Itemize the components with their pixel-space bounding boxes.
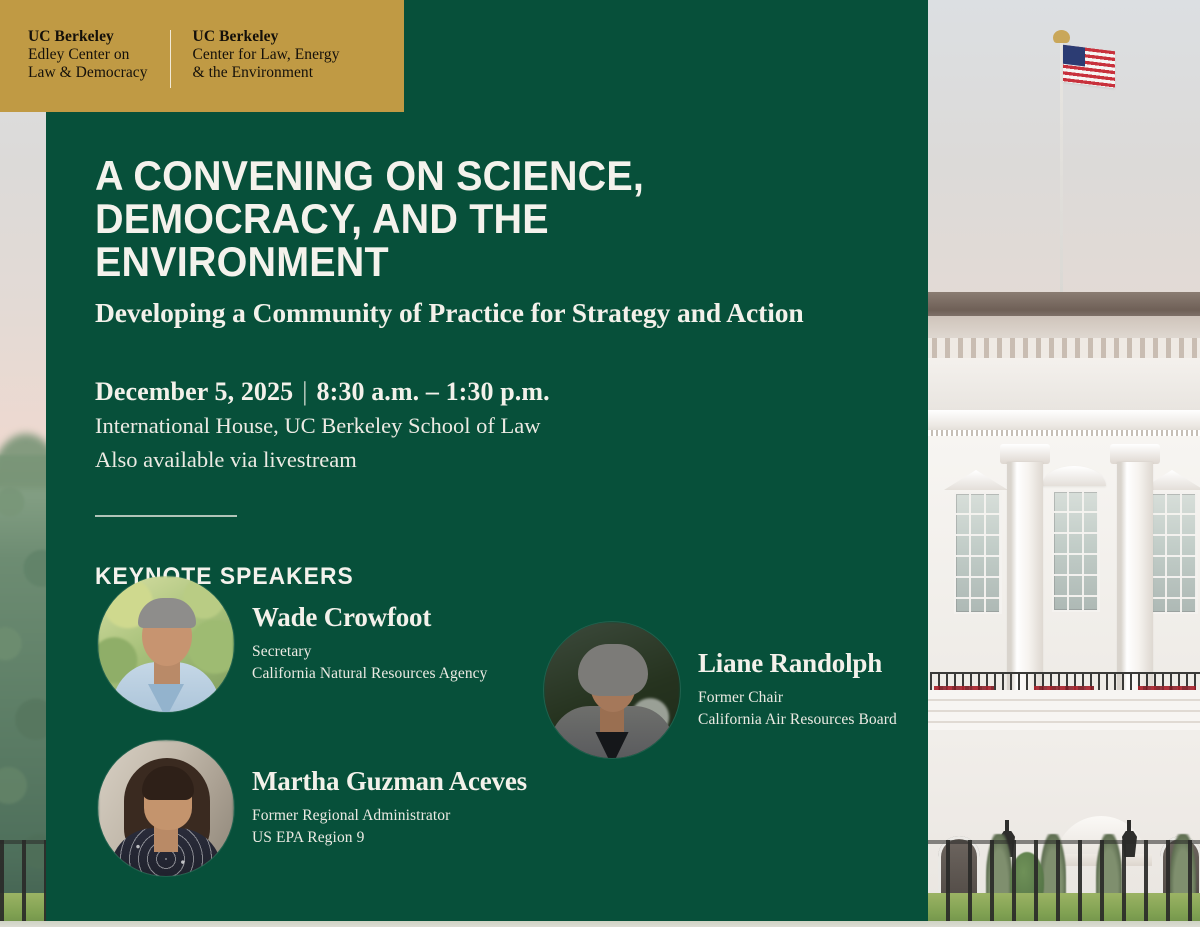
flyer-content: A CONVENING ON SCIENCE, DEMOCRACY, AND T… xyxy=(95,155,895,591)
speaker-card-martha-guzman-aceves: Martha Guzman Aceves Former Regional Adm… xyxy=(98,740,527,876)
logo-bar: UC Berkeley Edley Center on Law & Democr… xyxy=(0,0,404,112)
avatar xyxy=(98,740,234,876)
avatar xyxy=(544,622,680,758)
page-subtitle: Developing a Community of Practice for S… xyxy=(95,297,895,329)
column-capital xyxy=(1000,444,1050,464)
logo-clee: UC Berkeley Center for Law, Energy & the… xyxy=(193,28,340,82)
speaker-info: Martha Guzman Aceves Former Regional Adm… xyxy=(252,767,527,850)
datetime-separator: | xyxy=(293,377,316,407)
upper-wall xyxy=(928,358,1200,414)
avatar xyxy=(98,576,234,712)
logo-clee-line2: Center for Law, Energy xyxy=(193,46,340,64)
speaker-org: US EPA Region 9 xyxy=(252,827,527,849)
column-capital xyxy=(1110,444,1160,464)
logo-clee-line3: & the Environment xyxy=(193,64,340,82)
speaker-name: Wade Crowfoot xyxy=(252,603,488,633)
logo-divider xyxy=(170,30,171,88)
speaker-org: California Natural Resources Agency xyxy=(252,663,488,685)
speaker-info: Wade Crowfoot Secretary California Natur… xyxy=(252,603,488,686)
logo-uc-berkeley-label-2: UC Berkeley xyxy=(193,28,340,46)
title-line-2: DEMOCRACY, AND THE ENVIRONMENT xyxy=(95,198,847,284)
page-title: A CONVENING ON SCIENCE, DEMOCRACY, AND T… xyxy=(95,155,847,283)
speaker-org: California Air Resources Board xyxy=(698,709,897,731)
event-flyer: UC Berkeley Edley Center on Law & Democr… xyxy=(0,0,1200,927)
speaker-card-wade-crowfoot: Wade Crowfoot Secretary California Natur… xyxy=(98,576,488,712)
speaker-role: Secretary xyxy=(252,641,488,663)
avatar-hair xyxy=(578,644,648,696)
speaker-info: Liane Randolph Former Chair California A… xyxy=(698,649,897,732)
speakers-list: Wade Crowfoot Secretary California Natur… xyxy=(0,560,1200,920)
event-datetime: December 5, 2025|8:30 a.m. – 1:30 p.m. xyxy=(95,377,895,407)
speaker-role: Former Chair xyxy=(698,687,897,709)
event-date: December 5, 2025 xyxy=(95,377,293,406)
logo-edley-line2: Edley Center on xyxy=(28,46,148,64)
logo-uc-berkeley-label: UC Berkeley xyxy=(28,28,148,46)
event-time: 8:30 a.m. – 1:30 p.m. xyxy=(317,377,550,406)
bottom-edge-strip xyxy=(0,921,1200,927)
green-panel-top-right xyxy=(404,0,928,112)
logo-lockup: UC Berkeley Edley Center on Law & Democr… xyxy=(28,28,340,92)
speaker-card-liane-randolph: Liane Randolph Former Chair California A… xyxy=(544,622,897,758)
logo-edley-line3: Law & Democracy xyxy=(28,64,148,82)
speaker-role: Former Regional Administrator xyxy=(252,805,527,827)
event-livestream-note: Also available via livestream xyxy=(95,447,895,473)
flagpole-finial-icon xyxy=(1053,30,1070,43)
title-line-1: A CONVENING ON SCIENCE, xyxy=(95,152,644,199)
flag-canton xyxy=(1063,45,1085,67)
speaker-name: Martha Guzman Aceves xyxy=(252,767,527,797)
event-venue: International House, UC Berkeley School … xyxy=(95,413,895,439)
divider-rule xyxy=(95,515,237,517)
logo-edley-center: UC Berkeley Edley Center on Law & Democr… xyxy=(28,28,148,82)
american-flag-icon xyxy=(1063,45,1115,88)
speaker-name: Liane Randolph xyxy=(698,649,897,679)
